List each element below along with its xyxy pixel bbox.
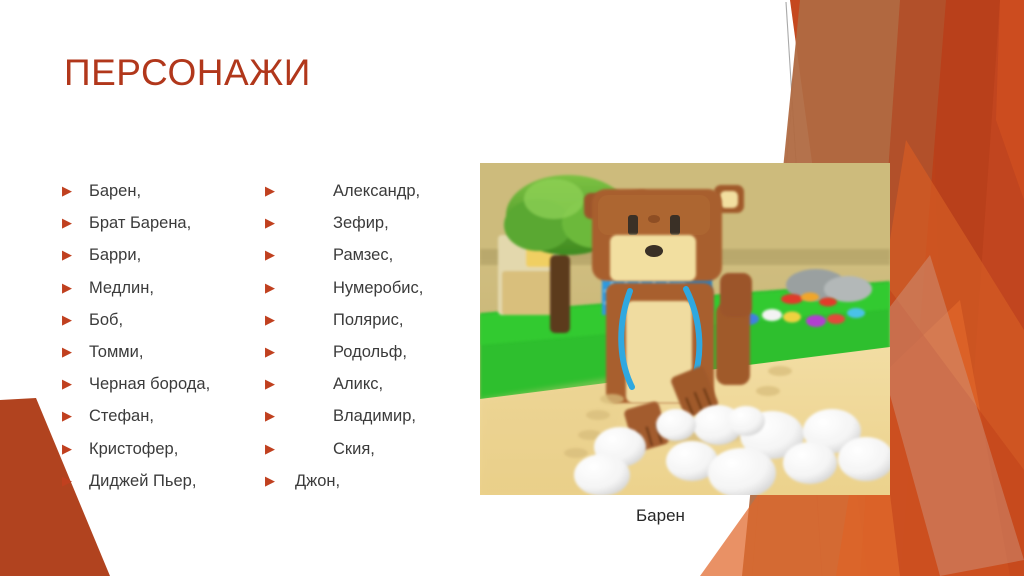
list-item-label: Джон, xyxy=(295,472,340,491)
list-item-label: Стефан, xyxy=(89,407,154,426)
list-item-label: Боб, xyxy=(89,311,123,330)
characters-column-right: ▶ Александр, ▶ Зефир, ▶ Рамзес, ▶ Нумеро… xyxy=(265,182,480,504)
list-item-label: Аликс, xyxy=(333,375,383,394)
bullet-triangle-icon: ▶ xyxy=(265,409,277,422)
list-item[interactable]: ▶ Барен, xyxy=(62,182,267,214)
bullet-triangle-icon: ▶ xyxy=(265,345,277,358)
list-item[interactable]: ▶ Зефир, xyxy=(265,214,480,246)
list-item-label: Черная борода, xyxy=(89,375,210,394)
bullet-triangle-icon: ▶ xyxy=(62,313,74,326)
list-item-label: Томми, xyxy=(89,343,143,362)
bullet-triangle-icon: ▶ xyxy=(62,345,74,358)
list-item[interactable]: ▶ Барри, xyxy=(62,246,267,278)
list-item-label: Диджей Пьер, xyxy=(89,472,196,491)
list-item[interactable]: ▶ Кристофер, xyxy=(62,440,267,472)
list-item-label: Зефир, xyxy=(333,214,389,233)
bullet-triangle-icon: ▶ xyxy=(265,313,277,326)
bullet-triangle-icon: ▶ xyxy=(265,248,277,261)
list-item[interactable]: ▶ Стефан, xyxy=(62,407,267,439)
character-screenshot xyxy=(480,163,890,495)
bullet-triangle-icon: ▶ xyxy=(62,442,74,455)
list-item[interactable]: ▶ Александр, xyxy=(265,182,480,214)
bullet-triangle-icon: ▶ xyxy=(265,216,277,229)
bullet-triangle-icon: ▶ xyxy=(265,442,277,455)
bullet-triangle-icon: ▶ xyxy=(62,281,74,294)
deco-shape-b xyxy=(930,0,1024,576)
deco-shape-h xyxy=(872,255,1024,576)
list-item-label: Кристофер, xyxy=(89,440,178,459)
list-item[interactable]: ▶ Боб, xyxy=(62,311,267,343)
deco-shape-i xyxy=(996,0,1024,200)
list-item-label: Александр, xyxy=(333,182,420,201)
list-item[interactable]: ▶ Нумеробис, xyxy=(265,279,480,311)
list-item[interactable]: ▶ Джон, xyxy=(265,472,480,504)
list-item[interactable]: ▶ Диджей Пьер, xyxy=(62,472,267,504)
list-item-label: Ския, xyxy=(333,440,375,459)
list-item[interactable]: ▶ Медлин, xyxy=(62,279,267,311)
list-item-label: Барри, xyxy=(89,246,141,265)
bullet-triangle-icon: ▶ xyxy=(265,377,277,390)
bullet-triangle-icon: ▶ xyxy=(62,409,74,422)
list-item[interactable]: ▶ Томми, xyxy=(62,343,267,375)
presentation-slide: ПЕРСОНАЖИ ▶ Барен, ▶ Брат Барена, ▶ Барр… xyxy=(0,0,1024,576)
characters-column-left: ▶ Барен, ▶ Брат Барена, ▶ Барри, ▶ Медли… xyxy=(62,182,267,504)
list-item[interactable]: ▶ Рамзес, xyxy=(265,246,480,278)
bullet-triangle-icon: ▶ xyxy=(62,248,74,261)
list-item[interactable]: ▶ Ския, xyxy=(265,440,480,472)
picture-caption: Барен xyxy=(636,506,685,526)
list-item-label: Брат Барена, xyxy=(89,214,191,233)
bullet-triangle-icon: ▶ xyxy=(62,377,74,390)
list-item[interactable]: ▶ Родольф, xyxy=(265,343,480,375)
bullet-triangle-icon: ▶ xyxy=(265,474,277,487)
list-item-label: Барен, xyxy=(89,182,141,201)
list-item[interactable]: ▶ Полярис, xyxy=(265,311,480,343)
list-item[interactable]: ▶ Черная борода, xyxy=(62,375,267,407)
list-item-label: Нумеробис, xyxy=(333,279,423,298)
bullet-triangle-icon: ▶ xyxy=(265,281,277,294)
bullet-triangle-icon: ▶ xyxy=(62,184,74,197)
bullet-triangle-icon: ▶ xyxy=(265,184,277,197)
page-title: ПЕРСОНАЖИ xyxy=(64,52,311,94)
list-item-label: Медлин, xyxy=(89,279,154,298)
bullet-triangle-icon: ▶ xyxy=(62,474,74,487)
list-item-label: Полярис, xyxy=(333,311,403,330)
list-item[interactable]: ▶ Аликс, xyxy=(265,375,480,407)
list-item[interactable]: ▶ Брат Барена, xyxy=(62,214,267,246)
list-item-label: Рамзес, xyxy=(333,246,393,265)
bullet-triangle-icon: ▶ xyxy=(62,216,74,229)
list-item-label: Родольф, xyxy=(333,343,407,362)
list-item[interactable]: ▶ Владимир, xyxy=(265,407,480,439)
list-item-label: Владимир, xyxy=(333,407,416,426)
